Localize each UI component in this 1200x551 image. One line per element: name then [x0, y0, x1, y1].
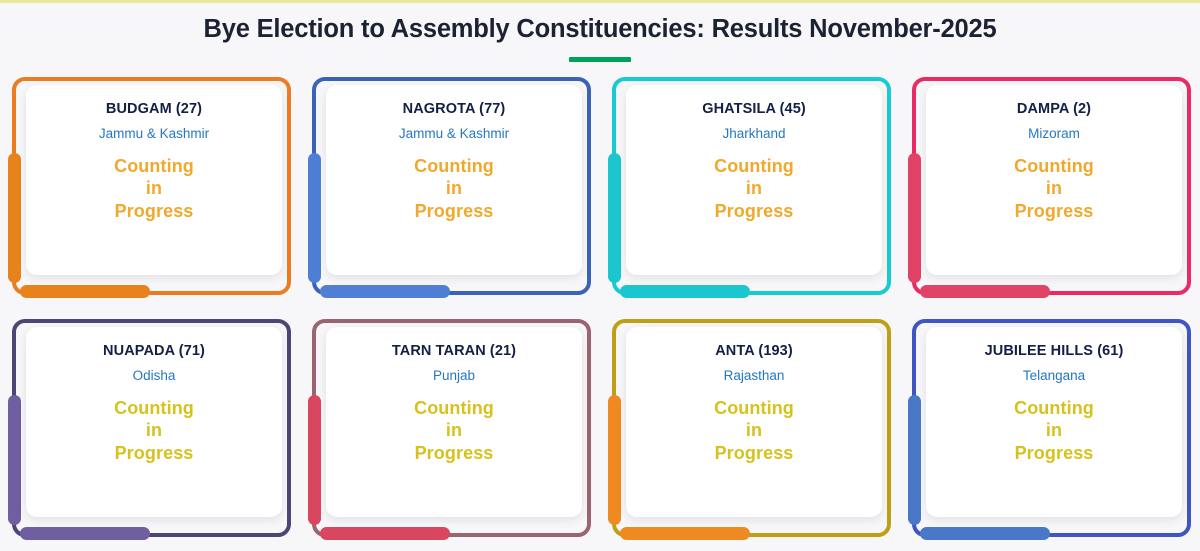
card-left-accent-bar: [308, 395, 321, 525]
card-left-accent-bar: [8, 395, 21, 525]
status-badge: CountinginProgress: [26, 397, 282, 465]
card-content: ANTA (193) Rajasthan CountinginProgress: [626, 327, 882, 517]
card-bottom-accent-bar: [920, 285, 1050, 298]
constituency-card[interactable]: TARN TARAN (21) Punjab CountinginProgres…: [300, 311, 600, 546]
card-bottom-accent-bar: [20, 527, 150, 540]
constituency-card-grid: BUDGAM (27) Jammu & Kashmir CountinginPr…: [0, 69, 1200, 551]
constituency-card[interactable]: ANTA (193) Rajasthan CountinginProgress: [600, 311, 900, 546]
card-content: BUDGAM (27) Jammu & Kashmir CountinginPr…: [26, 85, 282, 275]
status-badge: CountinginProgress: [926, 155, 1182, 223]
constituency-name: DAMPA (2): [926, 102, 1182, 118]
card-bottom-accent-bar: [320, 527, 450, 540]
constituency-name: ANTA (193): [626, 344, 882, 360]
constituency-card[interactable]: DAMPA (2) Mizoram CountinginProgress: [900, 69, 1200, 304]
constituency-name: TARN TARAN (21): [326, 344, 582, 360]
state-name: Rajasthan: [626, 369, 882, 384]
state-name: Jammu & Kashmir: [26, 127, 282, 142]
card-content: DAMPA (2) Mizoram CountinginProgress: [926, 85, 1182, 275]
card-left-accent-bar: [308, 153, 321, 283]
card-bottom-accent-bar: [320, 285, 450, 298]
title-underline: [569, 57, 631, 62]
card-bottom-accent-bar: [20, 285, 150, 298]
constituency-card[interactable]: JUBILEE HILLS (61) Telangana CountinginP…: [900, 311, 1200, 546]
page-title: Bye Election to Assembly Constituencies:…: [0, 3, 1200, 43]
state-name: Jharkhand: [626, 127, 882, 142]
card-content: TARN TARAN (21) Punjab CountinginProgres…: [326, 327, 582, 517]
state-name: Mizoram: [926, 127, 1182, 142]
state-name: Odisha: [26, 369, 282, 384]
card-left-accent-bar: [908, 395, 921, 525]
card-bottom-accent-bar: [920, 527, 1050, 540]
state-name: Punjab: [326, 369, 582, 384]
constituency-card[interactable]: GHATSILA (45) Jharkhand CountinginProgre…: [600, 69, 900, 304]
constituency-card[interactable]: BUDGAM (27) Jammu & Kashmir CountinginPr…: [0, 69, 300, 304]
constituency-card[interactable]: NAGROTA (77) Jammu & Kashmir CountinginP…: [300, 69, 600, 304]
constituency-name: NAGROTA (77): [326, 102, 582, 118]
card-content: JUBILEE HILLS (61) Telangana CountinginP…: [926, 327, 1182, 517]
status-badge: CountinginProgress: [626, 155, 882, 223]
card-content: GHATSILA (45) Jharkhand CountinginProgre…: [626, 85, 882, 275]
status-badge: CountinginProgress: [326, 397, 582, 465]
constituency-card[interactable]: NUAPADA (71) Odisha CountinginProgress: [0, 311, 300, 546]
constituency-name: NUAPADA (71): [26, 344, 282, 360]
status-badge: CountinginProgress: [926, 397, 1182, 465]
constituency-name: JUBILEE HILLS (61): [926, 344, 1182, 360]
card-left-accent-bar: [908, 153, 921, 283]
status-badge: CountinginProgress: [26, 155, 282, 223]
card-left-accent-bar: [8, 153, 21, 283]
card-left-accent-bar: [608, 153, 621, 283]
card-bottom-accent-bar: [620, 285, 750, 298]
status-badge: CountinginProgress: [326, 155, 582, 223]
card-left-accent-bar: [608, 395, 621, 525]
status-badge: CountinginProgress: [626, 397, 882, 465]
state-name: Telangana: [926, 369, 1182, 384]
state-name: Jammu & Kashmir: [326, 127, 582, 142]
card-bottom-accent-bar: [620, 527, 750, 540]
card-content: NAGROTA (77) Jammu & Kashmir CountinginP…: [326, 85, 582, 275]
card-content: NUAPADA (71) Odisha CountinginProgress: [26, 327, 282, 517]
page-header: Bye Election to Assembly Constituencies:…: [0, 3, 1200, 69]
constituency-name: GHATSILA (45): [626, 102, 882, 118]
constituency-name: BUDGAM (27): [26, 102, 282, 118]
